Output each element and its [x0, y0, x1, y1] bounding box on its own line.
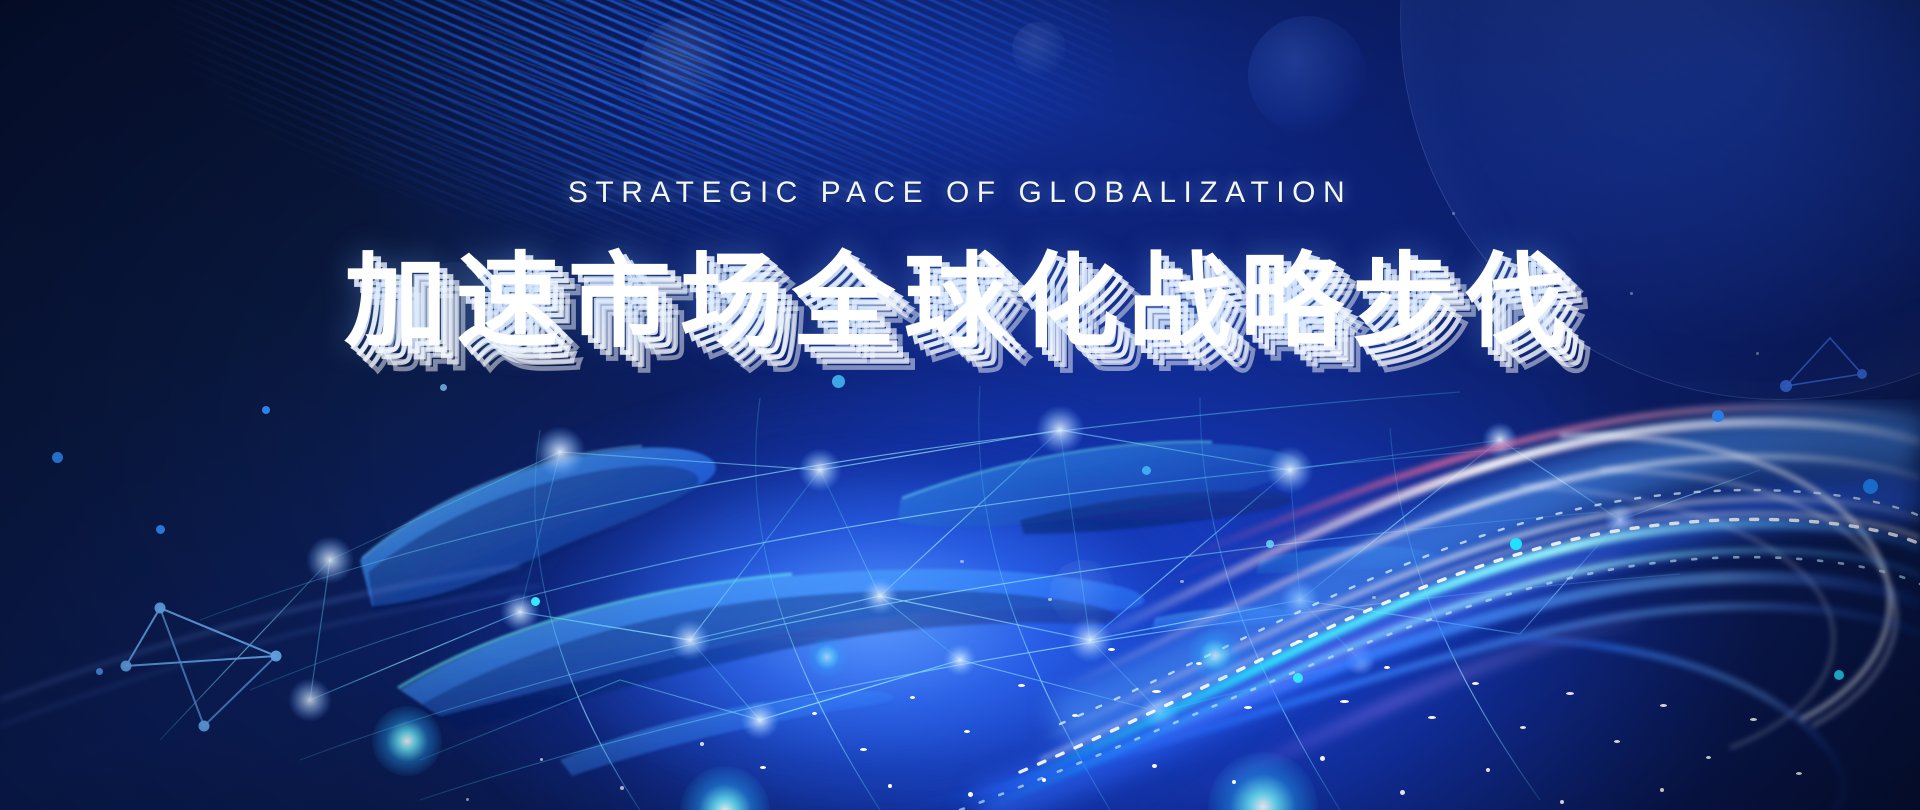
hero-banner: STRATEGIC PACE OF GLOBALIZATION 加速市场全球化战…: [0, 0, 1920, 810]
particle-sparkles: [0, 0, 1920, 810]
